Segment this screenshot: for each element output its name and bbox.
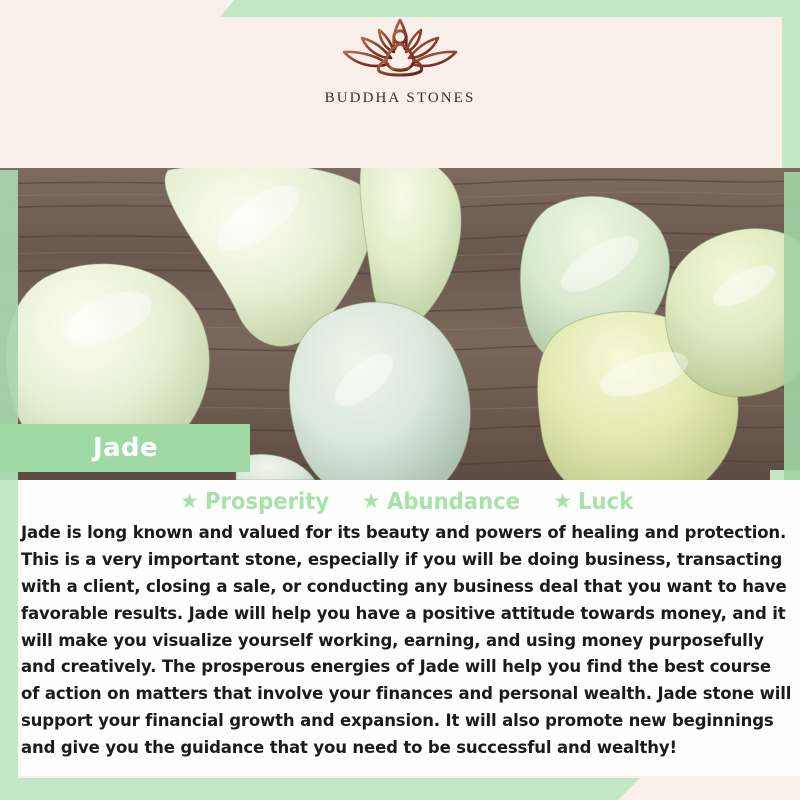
lotus-meditation-icon [335, 14, 465, 88]
benefit-item-1: ★ Abundance [362, 489, 531, 515]
content-panel: ★ Prosperity ★ Abundance ★ Luck Jade is … [18, 480, 800, 776]
brand-name: BUDDHA STONES [325, 90, 476, 107]
benefits-row: ★ Prosperity ★ Abundance ★ Luck [18, 480, 800, 518]
decor-green-right-strip [784, 172, 800, 480]
decor-green-bottom-band [0, 778, 640, 800]
star-icon: ★ [553, 491, 572, 512]
star-icon: ★ [362, 491, 381, 512]
star-icon: ★ [180, 491, 199, 512]
stone-info-poster: BUDDHA STONES [0, 0, 800, 800]
benefit-item-2: ★ Luck [553, 489, 638, 515]
stone-description: Jade is long known and valued for its be… [21, 520, 793, 762]
benefit-label-0: Prosperity [205, 489, 329, 515]
decor-green-left-lower [0, 468, 18, 788]
brand-header: BUDDHA STONES [0, 14, 800, 122]
benefit-label-1: Abundance [387, 489, 520, 515]
benefit-label-2: Luck [578, 489, 633, 515]
stone-name-badge: Jade [0, 424, 250, 472]
benefit-item-0: ★ Prosperity [180, 489, 340, 515]
stone-name-label: Jade [93, 433, 158, 463]
